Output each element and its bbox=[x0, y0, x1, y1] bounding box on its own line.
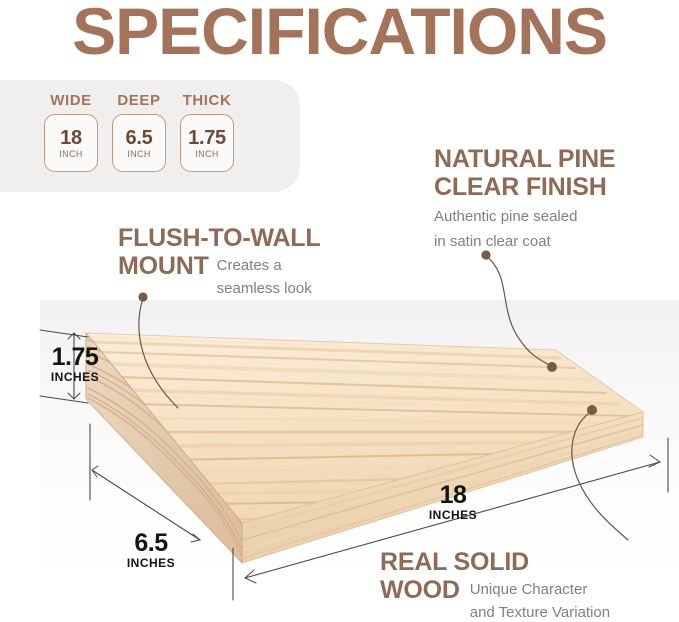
annotation-real-solid-wood: REAL SOLID WOOD Unique Character and Tex… bbox=[380, 548, 679, 622]
dimension-value-thickness: 1.75 bbox=[36, 344, 114, 370]
specifications-infographic: SPECIFICATIONS WIDE 18 INCH DEEP 6.5 INC… bbox=[0, 0, 679, 622]
annotation-sub-real-solid-wood-line1: Unique Character bbox=[470, 580, 660, 599]
annotation-sub-real-solid-wood-line2: and Texture Variation bbox=[470, 603, 660, 622]
annotation-heading-flush-to-wall-line1: FLUSH-TO-WALL bbox=[118, 224, 388, 252]
annotation-sub-natural-pine-line1: Authentic pine sealed bbox=[434, 207, 674, 226]
leader-dot-real-solid-wood-target bbox=[587, 405, 597, 415]
annotation-sub-natural-pine-line2: in satin clear coat bbox=[434, 232, 674, 251]
dimension-value-depth: 6.5 bbox=[112, 530, 190, 556]
annotation-heading-natural-pine-line1: NATURAL PINE bbox=[434, 145, 674, 173]
annotation-sub-flush-to-wall-line1: Creates a bbox=[217, 256, 337, 275]
annotation-heading-real-solid-wood-line1: REAL SOLID bbox=[380, 548, 679, 576]
leader-dot-natural-pine-label bbox=[481, 250, 490, 259]
annotation-sub-flush-to-wall-line2: seamless look bbox=[217, 279, 337, 298]
annotation-heading-real-solid-wood-line2: WOOD bbox=[380, 576, 460, 604]
wood-shelf-illustration bbox=[0, 0, 679, 622]
dimension-value-width: 18 bbox=[414, 482, 492, 508]
dimension-unit-thickness: INCHES bbox=[36, 370, 114, 384]
dimension-label-width: 18 INCHES bbox=[414, 482, 492, 522]
dimension-unit-width: INCHES bbox=[414, 508, 492, 522]
leader-dot-natural-pine-target bbox=[547, 362, 557, 372]
dimension-label-depth: 6.5 INCHES bbox=[112, 530, 190, 570]
annotation-heading-flush-to-wall-line2: MOUNT bbox=[118, 252, 209, 280]
dimension-unit-depth: INCHES bbox=[112, 556, 190, 570]
annotation-flush-to-wall: FLUSH-TO-WALL MOUNT Creates a seamless l… bbox=[118, 224, 388, 298]
annotation-natural-pine: NATURAL PINE CLEAR FINISH Authentic pine… bbox=[434, 145, 674, 251]
dimension-label-thickness: 1.75 INCHES bbox=[36, 344, 114, 384]
annotation-heading-natural-pine-line2: CLEAR FINISH bbox=[434, 173, 674, 201]
